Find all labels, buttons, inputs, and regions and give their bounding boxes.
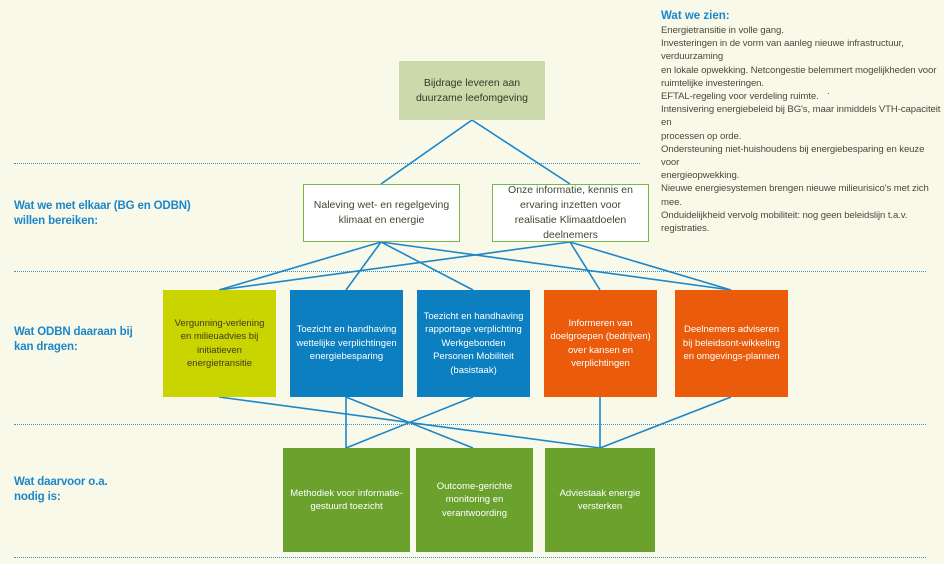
observation-line: ruimtelijke investeringen. (661, 77, 941, 90)
node-contribution-3[interactable]: Toezicht en handhaving rapportage verpli… (417, 290, 530, 397)
node-contribution-5[interactable]: Deelnemers adviseren bij beleidsont-wikk… (675, 290, 788, 397)
observation-line: energieopwekking. (661, 169, 941, 182)
observation-line: Investeringen in de vorm van aanleg nieu… (661, 37, 941, 63)
observations-panel: Wat we zien: Energietransitie in volle g… (661, 10, 941, 235)
node-enabler-2[interactable]: Outcome-gerichte monitoring en verantwoo… (416, 448, 533, 552)
node-enabler-3[interactable]: Adviestaak energie versterken (545, 448, 655, 552)
node-contribution-3-label: Toezicht en handhaving rapportage verpli… (423, 310, 524, 378)
node-goal-label: Bijdrage leveren aan duurzame leefomgevi… (405, 76, 539, 106)
observation-line: en lokale opwekking. Netcongestie belemm… (661, 64, 941, 77)
node-enabler-1-label: Methodiek voor informatie-gestuurd toezi… (289, 487, 404, 514)
observation-line: Ondersteuning niet-huishoudens bij energ… (661, 143, 941, 169)
diagram-canvas: Wat we met elkaar (BG en ODBN) willen be… (0, 0, 944, 564)
observation-line: Onduidelijkheid vervolg mobiliteit: nog … (661, 209, 941, 235)
node-ambition-2-label: Onze informatie, kennis en ervaring inze… (499, 183, 642, 243)
node-contribution-4-label: Informeren van doelgroepen (bedrijven) o… (550, 317, 651, 371)
band-label-enabler: Wat daarvoor o.a. nodig is: (14, 475, 194, 504)
node-ambition-1[interactable]: Naleving wet- en regelgeving klimaat en … (303, 184, 460, 242)
observation-line: Nieuwe energiesystemen brengen nieuwe mi… (661, 182, 941, 208)
observations-stray-mark: . (827, 86, 830, 97)
observation-line: EFTAL-regeling voor verdeling ruimte. (661, 90, 941, 103)
observation-line: processen op orde. (661, 130, 941, 143)
node-ambition-2[interactable]: Onze informatie, kennis en ervaring inze… (492, 184, 649, 242)
node-enabler-3-label: Adviestaak energie versterken (551, 487, 649, 514)
node-ambition-1-label: Naleving wet- en regelgeving klimaat en … (310, 198, 453, 228)
observation-line: Energietransitie in volle gang. (661, 24, 941, 37)
node-contribution-2[interactable]: Toezicht en handhaving wettelijke verpli… (290, 290, 403, 397)
node-enabler-1[interactable]: Methodiek voor informatie-gestuurd toezi… (283, 448, 410, 552)
node-contribution-5-label: Deelnemers adviseren bij beleidsont-wikk… (681, 323, 782, 364)
node-enabler-2-label: Outcome-gerichte monitoring en verantwoo… (422, 480, 527, 521)
node-goal[interactable]: Bijdrage leveren aan duurzame leefomgevi… (399, 61, 545, 120)
node-contribution-4[interactable]: Informeren van doelgroepen (bedrijven) o… (544, 290, 657, 397)
band-label-ambition: Wat we met elkaar (BG en ODBN) willen be… (14, 199, 194, 228)
node-contribution-2-label: Toezicht en handhaving wettelijke verpli… (296, 323, 397, 364)
observation-line: Intensivering energiebeleid bij BG's, ma… (661, 103, 941, 129)
observations-title: Wat we zien: (661, 10, 941, 22)
band-label-contribution: Wat ODBN daaraan bij kan dragen: (14, 325, 194, 354)
